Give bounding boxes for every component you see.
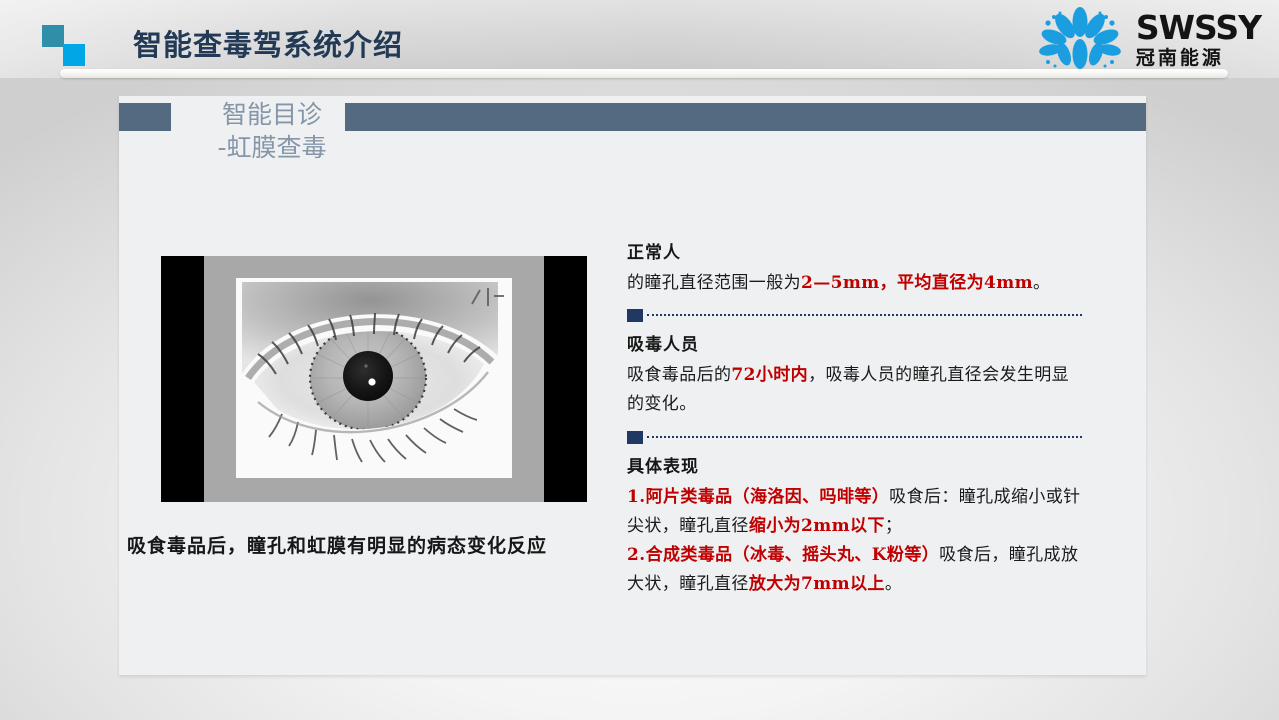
section-normal-person: 正常人 的瞳孔直径范围一般为2—5mm，平均直径为4mm。 [627,238,1082,298]
body-text-plain: 吸食毒品后的 [627,365,731,385]
list-text-highlight: 放大为7mm以上 [749,574,885,594]
content-text-column: 正常人 的瞳孔直径范围一般为2—5mm，平均直径为4mm。 吸毒人员 吸食毒品后… [627,238,1082,600]
section-drug-user: 吸毒人员 吸食毒品后的72小时内，吸毒人员的瞳孔直径会发生明显的变化。 [627,330,1082,419]
eye-image-frame [204,256,544,502]
list-text-plain: 。 [885,574,902,594]
slide-content-panel: 智能目诊 -虹膜查毒 [119,96,1146,675]
presentation-slide: 智能查毒驾系统介绍 [0,0,1279,720]
section-divider [627,429,1082,445]
brand-text: SWSSY 冠南能源 [1136,11,1261,68]
decorative-square-teal-icon [42,25,64,47]
water-droplet-radial-logo-icon [1034,6,1126,72]
decorative-squares [42,25,88,65]
list-item: 1.阿片类毒品（海洛因、吗啡等）吸食后：瞳孔成缩小或针尖状，瞳孔直径缩小为2mm… [627,483,1082,541]
divider-dotted-line [647,314,1082,316]
eye-photo [236,278,512,478]
slide-title-line2: -虹膜查毒 [197,131,347,164]
list-item-number: 2. [627,545,646,565]
section-body: 吸食毒品后的72小时内，吸毒人员的瞳孔直径会发生明显的变化。 [627,361,1082,419]
section-heading: 具体表现 [627,452,1082,477]
list-text-highlight: 合成类毒品（冰毒、摇头丸、K粉等） [646,545,940,565]
decorative-square-cyan-icon [63,44,85,66]
body-text-highlight: 2—5mm，平均直径为4mm [801,273,1033,293]
title-bar-left-accent [119,103,171,131]
section-heading: 吸毒人员 [627,330,1082,355]
list-text-highlight: 阿片类毒品（海洛因、吗啡等） [646,487,890,507]
section-divider [627,307,1082,323]
page-title: 智能查毒驾系统介绍 [133,22,403,64]
slide-title-line1: 智能目诊 [222,100,322,129]
divider-square-icon [627,431,643,444]
body-text-highlight: 72小时内 [731,365,808,385]
slide-header: 智能查毒驾系统介绍 [0,0,1279,78]
body-text-plain: 的瞳孔直径范围一般为 [627,273,801,293]
list-text-highlight: 缩小为2mm以下 [749,516,885,536]
section-body: 的瞳孔直径范围一般为2—5mm，平均直径为4mm。 [627,269,1082,298]
divider-square-icon [627,309,643,322]
section-heading: 正常人 [627,238,1082,263]
header-divider [60,69,1228,78]
body-text-plain: 。 [1033,273,1050,293]
grayscale-eye-illustration-icon [236,278,512,478]
section-specific-symptoms: 具体表现 1.阿片类毒品（海洛因、吗啡等）吸食后：瞳孔成缩小或针尖状，瞳孔直径缩… [627,452,1082,600]
title-bar-right-accent [345,103,1146,131]
figure-caption: 吸食毒品后，瞳孔和虹膜有明显的病态变化反应 [127,531,627,558]
divider-dotted-line [647,436,1082,438]
brand-logo: SWSSY 冠南能源 [1034,4,1261,74]
list-text-plain: ； [885,516,902,536]
eye-image-container [161,256,587,502]
list-item: 2.合成类毒品（冰毒、摇头丸、K粉等）吸食后，瞳孔成放大状，瞳孔直径放大为7mm… [627,541,1082,599]
brand-subtitle: 冠南能源 [1136,49,1261,68]
brand-name: SWSSY [1136,11,1261,44]
slide-title: 智能目诊 -虹膜查毒 [197,98,347,164]
list-item-number: 1. [627,487,646,507]
